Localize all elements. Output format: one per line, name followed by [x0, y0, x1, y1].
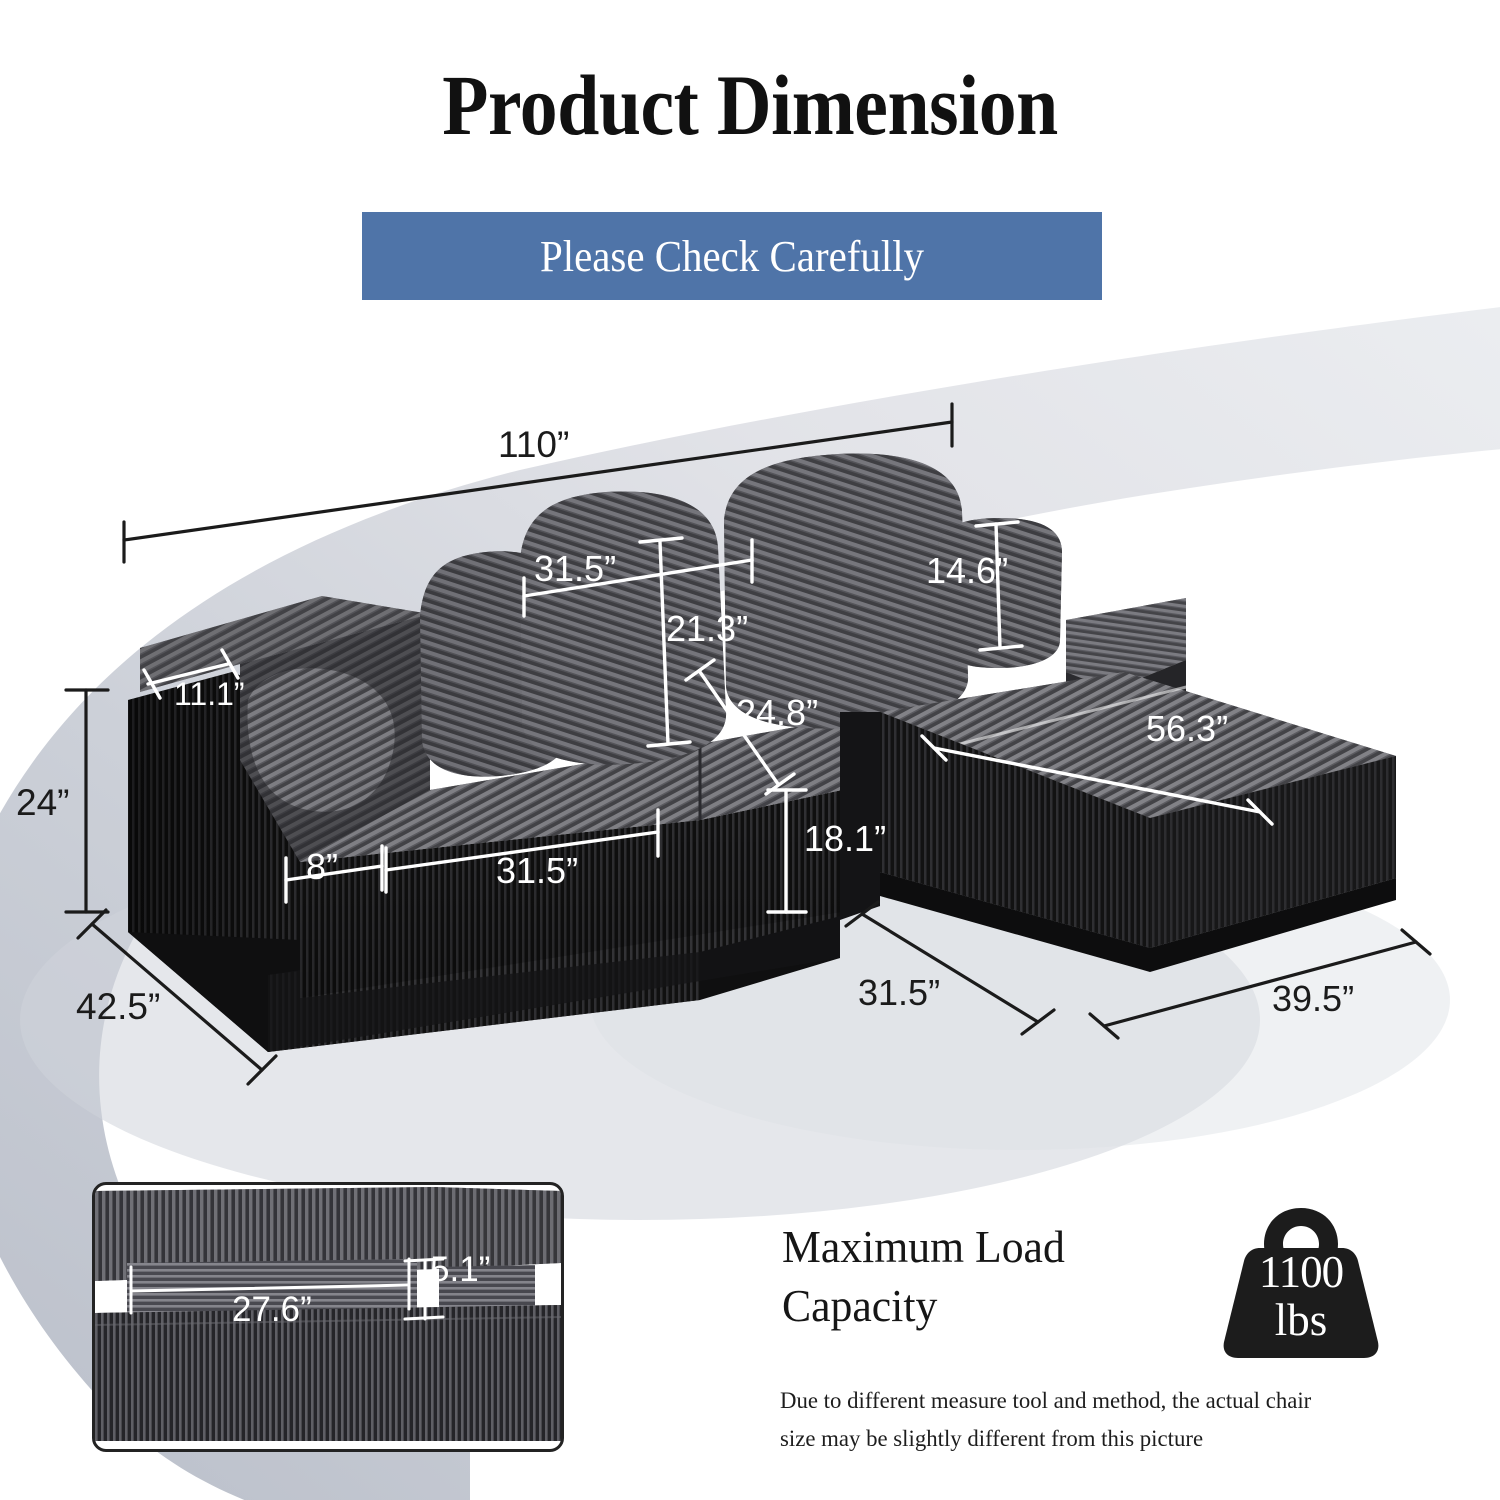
dim-back-cushion-height: 21.3” — [666, 608, 748, 650]
page-title: Product Dimension — [90, 62, 1410, 148]
disclaimer-line1: Due to different measure tool and method… — [780, 1382, 1420, 1420]
detail-illustration — [95, 1185, 561, 1449]
dim-back-cushion-width: 31.5” — [534, 548, 616, 590]
weight-icon: 1100 lbs — [1216, 1206, 1386, 1366]
dim-chaise-depth: 31.5” — [858, 972, 940, 1014]
dim-detail-cushion-length: 27.6” — [232, 1290, 312, 1330]
dim-overall-height: 24” — [16, 782, 69, 824]
max-load-heading: Maximum Load Capacity — [782, 1218, 1181, 1336]
dim-chaise-width: 39.5” — [1272, 978, 1354, 1020]
max-load-line2: Capacity — [782, 1277, 1181, 1336]
weight-shape — [1216, 1206, 1386, 1366]
dim-overall-width: 110” — [498, 424, 569, 466]
infographic-canvas: Product Dimension Please Check Carefully… — [0, 0, 1500, 1500]
dim-detail-cushion-thickness: 5.1” — [430, 1250, 490, 1290]
dim-arm-width: 11.1” — [174, 676, 245, 713]
dim-seat-cushion-width: 31.5” — [496, 850, 578, 892]
dim-chaise-length: 56.3” — [1146, 708, 1228, 750]
dim-arm-depth: 8” — [306, 846, 338, 888]
dim-throw-pillow: 14.6” — [926, 550, 1008, 592]
check-carefully-banner: Please Check Carefully — [362, 212, 1102, 300]
seat-cushion-detail-panel — [92, 1182, 564, 1452]
dim-overall-depth: 42.5” — [76, 986, 160, 1028]
disclaimer-line2: size may be slightly different from this… — [780, 1420, 1420, 1458]
banner-label: Please Check Carefully — [388, 212, 1076, 300]
max-load-line1: Maximum Load — [782, 1218, 1181, 1277]
disclaimer-text: Due to different measure tool and method… — [780, 1382, 1420, 1458]
dim-seat-height: 18.1” — [804, 818, 886, 860]
dim-seat-depth: 24.8” — [736, 692, 818, 734]
